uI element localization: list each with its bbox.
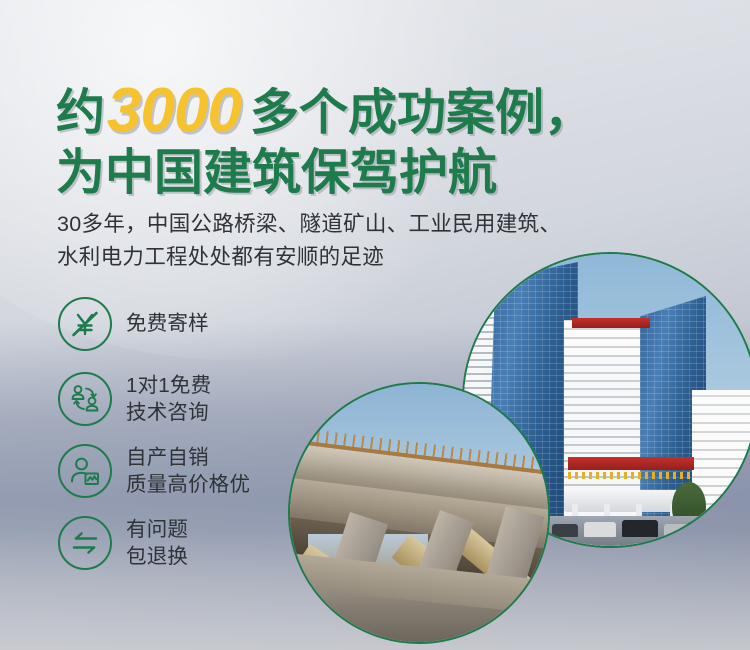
feature-label-consult: 1对1免费 技术咨询 <box>126 372 211 426</box>
feature-line: 包退换 <box>126 543 188 570</box>
feature-item-free-sample[interactable]: 免费寄样 <box>58 297 250 351</box>
feature-line: 免费寄样 <box>126 310 209 337</box>
self-production-sales-icon <box>58 444 112 498</box>
subtitle-line-1: 30多年，中国公路桥梁、隧道矿山、工业民用建筑、 <box>57 208 717 241</box>
headline-line-1: 约 3000 多个成功案例， <box>56 78 746 140</box>
headline-suffix: 多个成功案例， <box>250 89 593 138</box>
feature-list: 免费寄样 <box>58 297 250 588</box>
headline-line-2: 为中国建筑保驾护航 <box>56 149 746 198</box>
car-dark-2 <box>622 520 658 537</box>
feature-item-self-production[interactable]: 自产自销 质量高价格优 <box>58 444 250 498</box>
building-lower-sign <box>568 457 694 470</box>
bridge-photo-content <box>290 384 548 642</box>
feature-label-return-exchange: 有问题 包退换 <box>126 516 188 570</box>
feature-line: 1对1免费 <box>126 372 211 399</box>
feature-label-free-sample: 免费寄样 <box>126 310 209 337</box>
poster-stage: 约 3000 多个成功案例， 为中国建筑保驾护航 30多年，中国公路桥梁、隧道矿… <box>0 0 750 650</box>
feature-item-return-exchange[interactable]: 有问题 包退换 <box>58 516 250 570</box>
building-sign-lights <box>568 472 694 479</box>
feature-label-self-production: 自产自销 质量高价格优 <box>126 444 250 498</box>
feature-item-consult[interactable]: 1对1免费 技术咨询 <box>58 372 250 426</box>
feature-line: 有问题 <box>126 516 188 543</box>
headline-line-2-text: 为中国建筑保驾护航 <box>56 149 497 198</box>
building-upper-sign <box>572 318 650 328</box>
one-on-one-consult-icon <box>58 372 112 426</box>
headline: 约 3000 多个成功案例， 为中国建筑保驾护航 <box>56 78 746 198</box>
feature-line: 质量高价格优 <box>126 471 250 498</box>
no-fee-yen-icon <box>58 297 112 351</box>
car-white-2 <box>584 522 616 537</box>
bridge-photo <box>288 382 550 644</box>
return-exchange-icon <box>58 516 112 570</box>
car-dark-1 <box>552 524 578 537</box>
car-white-3 <box>664 524 690 537</box>
headline-number: 3000 <box>107 80 241 142</box>
feature-line: 技术咨询 <box>126 399 211 426</box>
feature-line: 自产自销 <box>126 444 250 471</box>
headline-prefix: 约 <box>56 89 105 138</box>
